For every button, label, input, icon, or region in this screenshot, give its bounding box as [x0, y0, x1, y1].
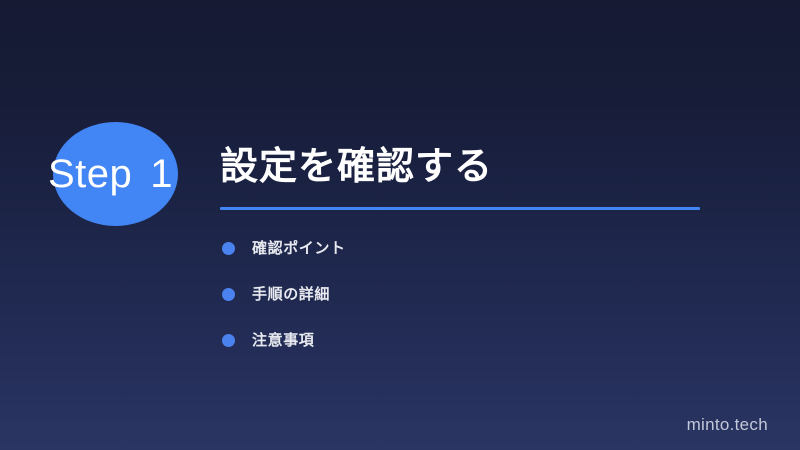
list-item-label: 手順の詳細	[252, 287, 330, 302]
list-item: 注意事項	[222, 328, 346, 352]
list-item-label: 注意事項	[252, 333, 314, 348]
title-divider	[220, 207, 700, 210]
bullet-dot-icon	[222, 334, 235, 347]
page-title: 設定を確認する	[220, 145, 720, 189]
list-item: 確認ポイント	[222, 236, 346, 260]
step-number: 1	[150, 154, 173, 194]
list-item-label: 確認ポイント	[252, 241, 346, 256]
bullet-list: 確認ポイント 手順の詳細 注意事項	[222, 236, 346, 374]
step-label: Step1	[48, 122, 248, 226]
list-item: 手順の詳細	[222, 282, 346, 306]
step-word: Step	[48, 154, 132, 194]
title-block: 設定を確認する	[220, 145, 720, 210]
watermark: minto.tech	[687, 416, 768, 433]
bullet-dot-icon	[222, 288, 235, 301]
step-badge: Step1	[53, 122, 178, 226]
bullet-dot-icon	[222, 242, 235, 255]
presentation-slide: Step1 設定を確認する 確認ポイント 手順の詳細 注意事項 minto.te…	[0, 0, 800, 450]
